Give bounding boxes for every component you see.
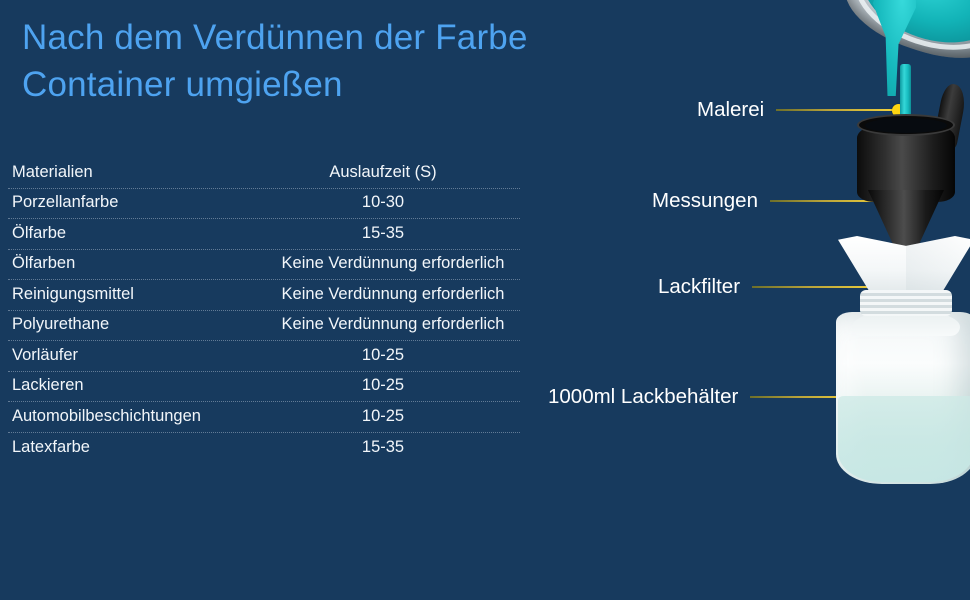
column-header-materials: Materialien [12, 163, 93, 182]
cell-time: 10-25 [248, 376, 518, 395]
page-title-line-2: Container umgießen [22, 61, 722, 108]
cell-time: Keine Verdünnung erforderlich [248, 285, 538, 304]
cell-time: 10-25 [248, 346, 518, 365]
cell-material: Latexfarbe [12, 438, 90, 457]
cell-material: Ölfarbe [12, 224, 66, 243]
callout-label: Malerei [697, 98, 764, 122]
cell-material: Ölfarben [12, 254, 75, 273]
materials-table: Materialien Auslaufzeit (S) Porzellanfar… [8, 158, 520, 463]
callout-label: 1000ml Lackbehälter [548, 385, 738, 409]
page-title-line-1: Nach dem Verdünnen der Farbe [22, 14, 722, 61]
table-row: Vorläufer 10-25 [8, 341, 520, 372]
table-row: Ölfarben Keine Verdünnung erforderlich [8, 250, 520, 281]
table-header-row: Materialien Auslaufzeit (S) [8, 158, 520, 189]
cell-time: 15-35 [248, 224, 518, 243]
table-row: Porzellanfarbe 10-30 [8, 189, 520, 220]
table-row: Lackieren 10-25 [8, 372, 520, 403]
page-title: Nach dem Verdünnen der Farbe Container u… [22, 14, 722, 108]
table-row: Polyurethane Keine Verdünnung erforderli… [8, 311, 520, 342]
cell-time: 15-35 [248, 438, 518, 457]
slide-canvas: Nach dem Verdünnen der Farbe Container u… [0, 0, 970, 600]
product-illustration [760, 0, 970, 504]
callout-label: Lackfilter [658, 275, 740, 299]
cell-time: Keine Verdünnung erforderlich [248, 315, 538, 334]
cell-material: Lackieren [12, 376, 84, 395]
paint-container-contents [838, 396, 970, 482]
cell-time: 10-25 [248, 407, 518, 426]
column-header-runout-time: Auslaufzeit (S) [248, 163, 518, 182]
measuring-funnel-opening [865, 118, 947, 133]
cell-material: Porzellanfarbe [12, 193, 118, 212]
cell-material: Polyurethane [12, 315, 109, 334]
paint-container-threads [860, 290, 952, 316]
cell-material: Vorläufer [12, 346, 78, 365]
table-row: Latexfarbe 15-35 [8, 433, 520, 464]
callout-label: Messungen [652, 189, 758, 213]
table-row: Automobilbeschichtungen 10-25 [8, 402, 520, 433]
table-row: Reinigungsmittel Keine Verdünnung erford… [8, 280, 520, 311]
cell-material: Reinigungsmittel [12, 285, 134, 304]
cell-material: Automobilbeschichtungen [12, 407, 201, 426]
table-row: Ölfarbe 15-35 [8, 219, 520, 250]
cell-time: 10-30 [248, 193, 518, 212]
cell-time: Keine Verdünnung erforderlich [248, 254, 538, 273]
